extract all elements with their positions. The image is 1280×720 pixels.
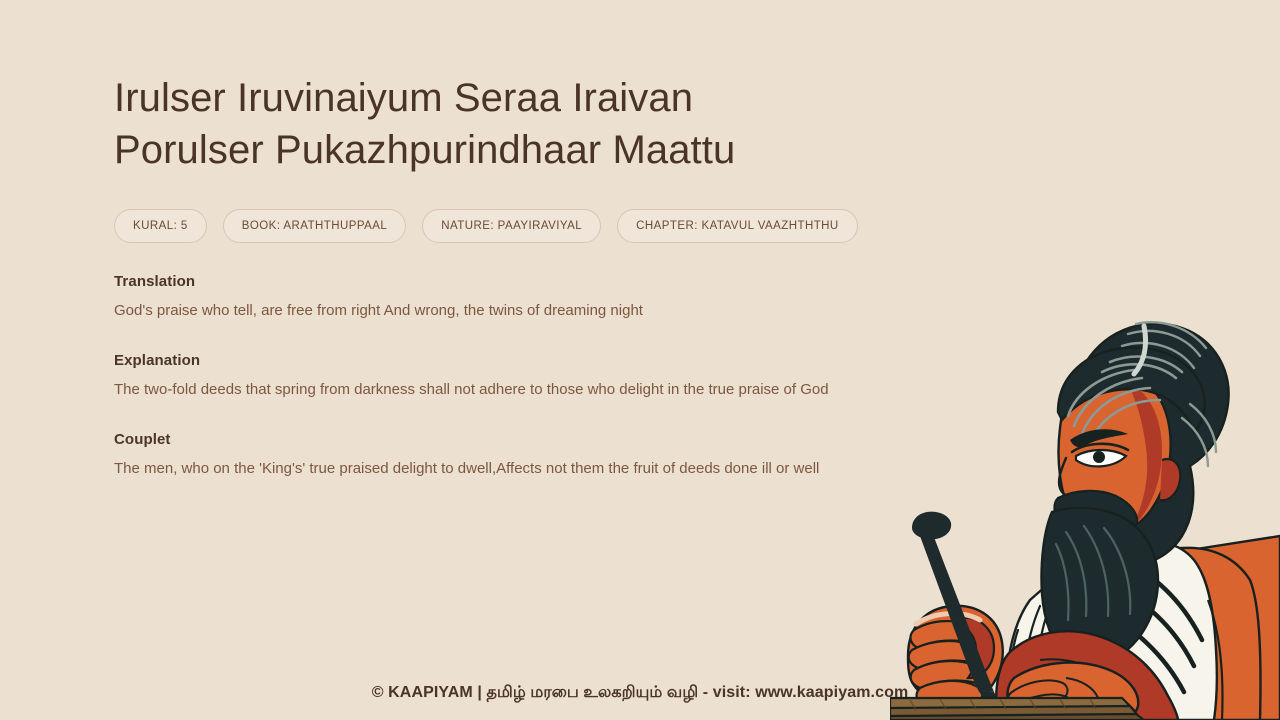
section-explanation: Explanation The two-fold deeds that spri… xyxy=(114,352,884,401)
thiruvalluvar-illustration xyxy=(890,300,1280,720)
title-line-2: Porulser Pukazhpurindhaar Maattu xyxy=(114,124,814,176)
kural-card-page: Irulser Iruvinaiyum Seraa Iraivan Poruls… xyxy=(0,0,1280,720)
section-translation-heading: Translation xyxy=(114,273,884,290)
footer-credit: © KAAPIYAM | தமிழ் மரபை உலகறியும் வழி - … xyxy=(0,683,1280,703)
kural-content: Irulser Iruvinaiyum Seraa Iraivan Poruls… xyxy=(114,72,884,480)
pill-chapter[interactable]: CHAPTER: KATAVUL VAAZHTHTHU xyxy=(617,209,858,243)
pill-kural[interactable]: KURAL: 5 xyxy=(114,209,207,243)
section-couplet-heading: Couplet xyxy=(114,431,884,448)
section-couplet-body: The men, who on the 'King's' true praise… xyxy=(114,458,859,480)
section-explanation-heading: Explanation xyxy=(114,352,884,369)
section-couplet: Couplet The men, who on the 'King's' tru… xyxy=(114,431,884,480)
section-translation: Translation God's praise who tell, are f… xyxy=(114,273,884,322)
metadata-pill-row: KURAL: 5 BOOK: ARATHTHUPPAAL NATURE: PAA… xyxy=(114,209,884,243)
section-translation-body: God's praise who tell, are free from rig… xyxy=(114,300,859,322)
pill-book[interactable]: BOOK: ARATHTHUPPAAL xyxy=(223,209,407,243)
pill-nature[interactable]: NATURE: PAAYIRAVIYAL xyxy=(422,209,601,243)
page-title: Irulser Iruvinaiyum Seraa Iraivan Poruls… xyxy=(114,72,814,176)
section-explanation-body: The two-fold deeds that spring from dark… xyxy=(114,379,859,401)
title-line-1: Irulser Iruvinaiyum Seraa Iraivan xyxy=(114,72,814,124)
